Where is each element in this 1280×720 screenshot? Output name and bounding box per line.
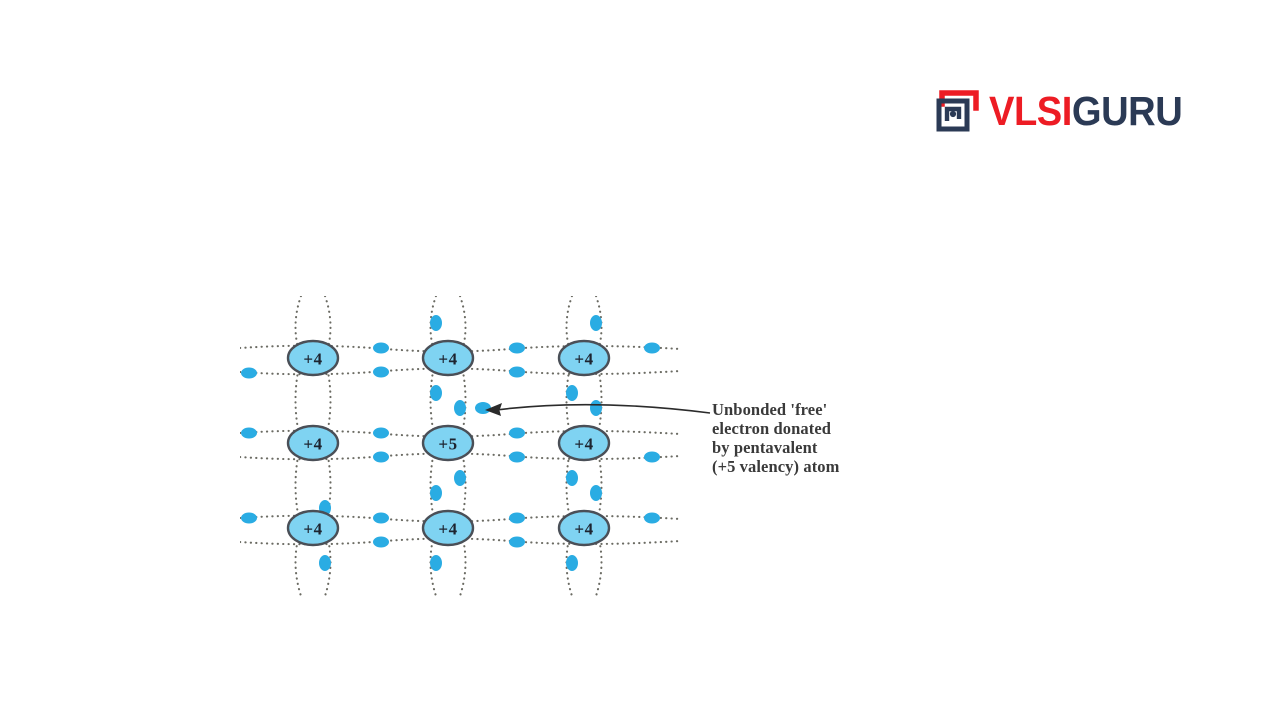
atom-a-r0-c0[interactable]: +4 — [288, 341, 338, 375]
annotation-text-block: Unbonded 'free' electron donated by pent… — [712, 400, 952, 476]
annotation-arrow-to-free-electron — [482, 396, 712, 430]
atom-label: +4 — [574, 350, 593, 369]
atom-a-r2-c2[interactable]: +4 — [559, 511, 609, 545]
atom-label: +4 — [303, 435, 322, 454]
crystal-lattice-diagram: +4 +4 +4 +4 +5 +4 — [240, 296, 680, 596]
atom-a-r0-c2[interactable]: +4 — [559, 341, 609, 375]
atom-a-r2-c0[interactable]: +4 — [288, 511, 338, 545]
atom-a-r0-c1[interactable]: +4 — [423, 341, 473, 375]
lattice-svg: +4 +4 +4 +4 +5 +4 — [240, 296, 680, 596]
vlsiguru-spiral-mark-icon — [936, 88, 982, 134]
vlsiguru-logo[interactable]: VLSIGURU — [936, 88, 1197, 134]
atom-a-r1-c2[interactable]: +4 — [559, 426, 609, 460]
annotation-line-3: by pentavalent — [712, 438, 952, 457]
atom-label: +4 — [438, 350, 457, 369]
logo-text-vlsi: VLSI — [989, 88, 1072, 134]
atom-a-r1-c0[interactable]: +4 — [288, 426, 338, 460]
atom-label: +4 — [574, 520, 593, 539]
logo-text-guru: GURU — [1072, 88, 1182, 134]
atom-a-r1-c1-dopant[interactable]: +5 — [423, 426, 473, 460]
atom-label: +4 — [438, 520, 457, 539]
annotation-line-1: Unbonded 'free' — [712, 400, 952, 419]
annotation-line-4: (+5 valency) atom — [712, 457, 952, 476]
atom-label: +5 — [438, 435, 457, 454]
atom-label: +4 — [303, 350, 322, 369]
annotation-line-2: electron donated — [712, 419, 952, 438]
atom-label: +4 — [303, 520, 322, 539]
slide-canvas: VLSIGURU — [0, 0, 1280, 720]
atom-label: +4 — [574, 435, 593, 454]
atom-a-r2-c1[interactable]: +4 — [423, 511, 473, 545]
arrow-svg — [482, 396, 712, 430]
vlsiguru-wordmark: VLSIGURU — [989, 91, 1182, 132]
